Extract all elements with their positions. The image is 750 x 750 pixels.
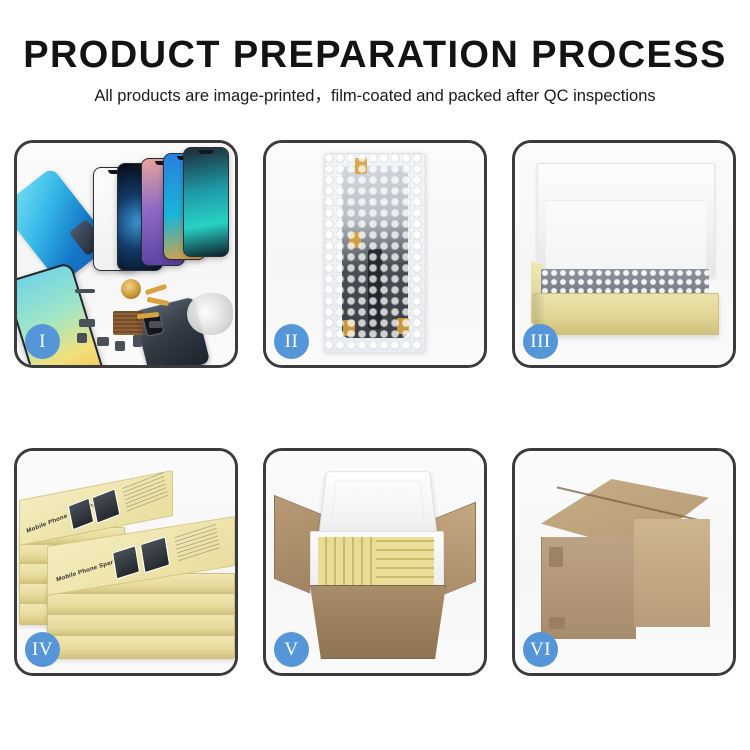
- step-panel-1[interactable]: I: [14, 140, 238, 368]
- carton-tape-mark: [549, 547, 563, 567]
- box-product-image: [68, 497, 95, 530]
- step-panel-6[interactable]: VI: [512, 448, 736, 676]
- screen-flex-strip: [368, 249, 382, 329]
- flex-cable: [145, 284, 167, 296]
- adhesive-tab: [349, 232, 361, 248]
- spare-parts-cluster: [75, 285, 187, 365]
- retail-box: [47, 593, 235, 616]
- step-badge-3: III: [523, 324, 558, 359]
- page-subtitle: All products are image-printed，film-coat…: [0, 88, 750, 105]
- part-bracket: [149, 321, 162, 328]
- step-panel-5[interactable]: V: [263, 448, 487, 676]
- part-button: [115, 341, 125, 351]
- box-product-image: [92, 488, 121, 524]
- box-spec-lines: [122, 471, 168, 512]
- adhesive-tab: [355, 158, 367, 174]
- carton-body: [310, 585, 446, 659]
- repair-tool: [187, 293, 233, 335]
- box-spec-lines: [174, 523, 220, 561]
- flex-cable: [137, 312, 159, 319]
- white-box-lid: [537, 163, 715, 277]
- step-panel-4[interactable]: Mobile Phone Spare Parts Mobile Phone Sp…: [14, 448, 238, 676]
- step-panel-3[interactable]: III: [512, 140, 736, 368]
- step-panel-2[interactable]: II: [263, 140, 487, 368]
- retail-box: [47, 614, 235, 637]
- box-product-image: [112, 545, 140, 579]
- page-title: PRODUCT PREPARATION PROCESS: [0, 36, 750, 74]
- part-chip: [77, 333, 87, 343]
- step-badge-4: IV: [25, 632, 60, 667]
- step-badge-2: II: [274, 324, 309, 359]
- page-header: PRODUCT PREPARATION PROCESS All products…: [0, 0, 750, 105]
- part-camera: [97, 337, 109, 346]
- speaker-coil-part: [121, 279, 141, 299]
- packed-yellow-boxes-row-2: [376, 537, 434, 585]
- phone-display-teal: [183, 147, 229, 257]
- flex-cable: [147, 297, 170, 306]
- box-product-image: [140, 536, 170, 573]
- step-badge-5: V: [274, 632, 309, 667]
- step-badge-6: VI: [523, 632, 558, 667]
- notch-icon: [198, 150, 214, 154]
- part-strip: [75, 289, 95, 293]
- process-steps-grid: I II III: [14, 140, 736, 676]
- step-badge-1: I: [25, 324, 60, 359]
- kraft-box-body: [533, 293, 719, 335]
- carton-side-face: [634, 519, 710, 627]
- adhesive-tab: [343, 320, 355, 336]
- part-connector: [79, 319, 95, 327]
- adhesive-tab: [397, 318, 409, 334]
- carton-tape-mark: [549, 617, 565, 629]
- part-module: [133, 335, 142, 347]
- bubble-wrap-bag: [324, 153, 426, 353]
- retail-box: [47, 635, 235, 659]
